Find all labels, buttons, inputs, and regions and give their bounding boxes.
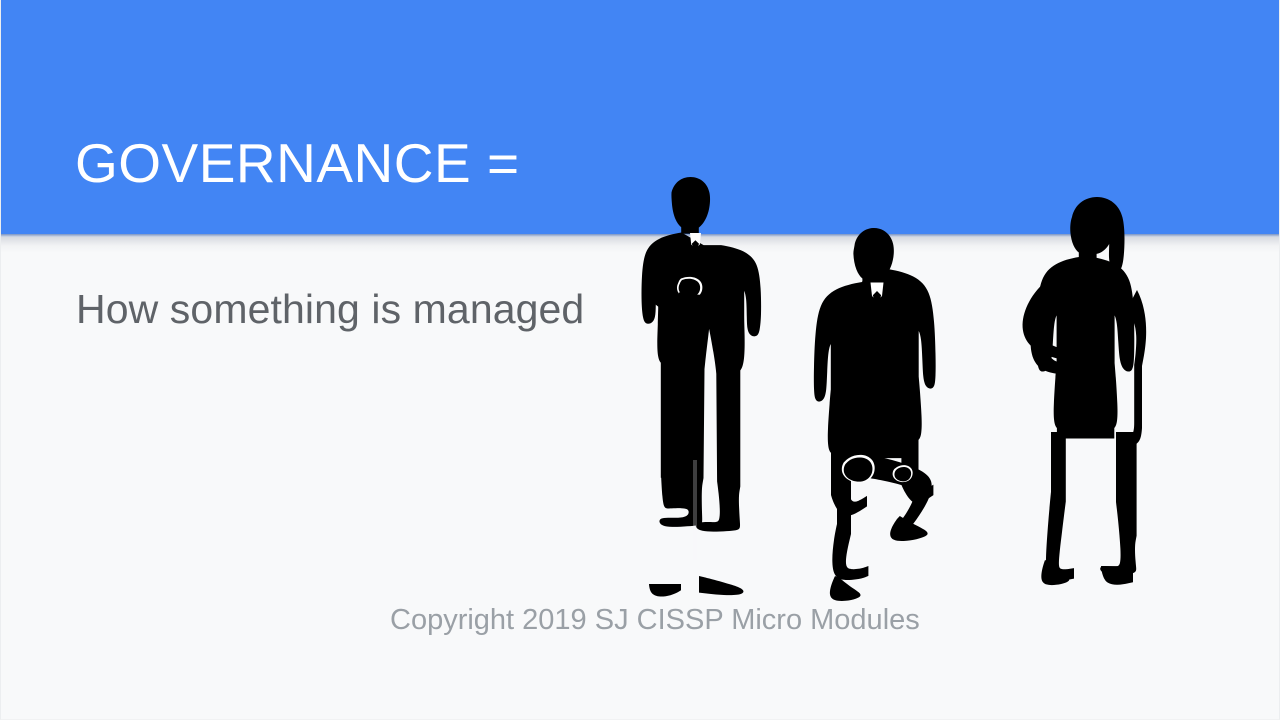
slide-title: GOVERNANCE =: [75, 128, 520, 198]
seated-man-silhouette: [814, 228, 936, 601]
standing-man-silhouette: [642, 177, 762, 597]
business-people-silhouettes-illustration: [621, 170, 1181, 610]
copyright-notice: Copyright 2019 SJ CISSP Micro Modules: [390, 600, 920, 640]
slide-subtitle: How something is managed: [76, 282, 584, 336]
presentation-slide: GOVERNANCE = How something is managed Co…: [0, 0, 1280, 720]
standing-woman-silhouette: [1023, 197, 1147, 585]
